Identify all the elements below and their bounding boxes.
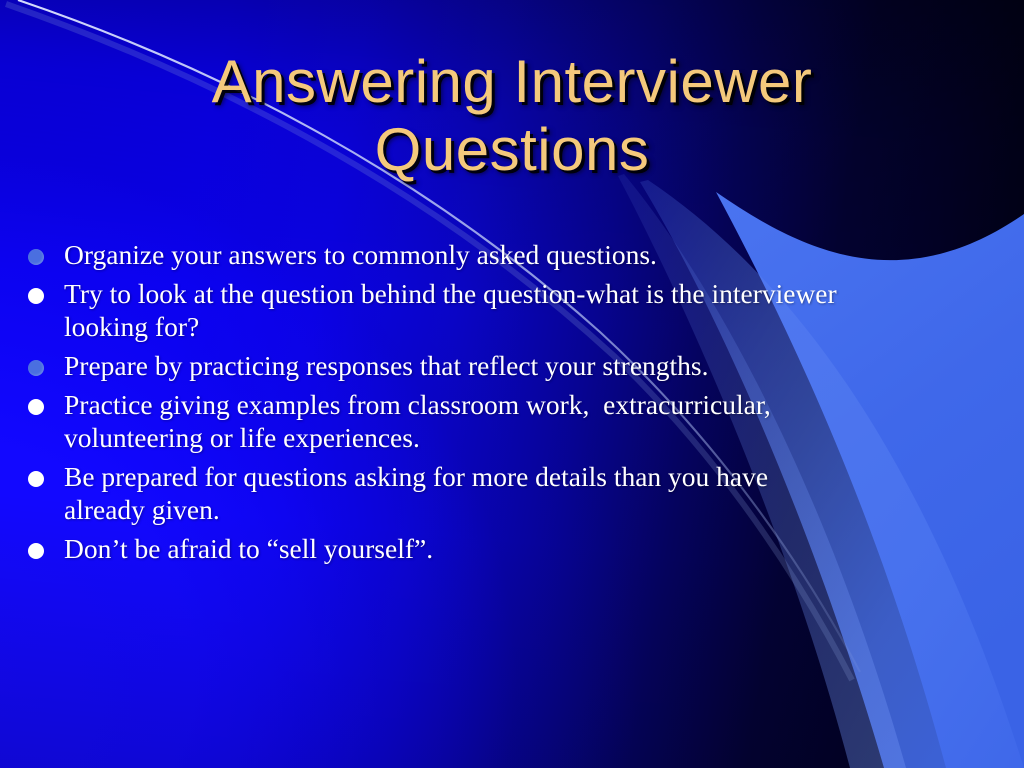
bullet-text: Try to look at the question behind the q… — [64, 277, 1024, 343]
bullet-item-4: Practice giving examples from classroom … — [28, 388, 1024, 454]
bullet-point-icon — [28, 471, 44, 487]
bullet-text: Don’t be afraid to “sell yourself”. — [64, 532, 1024, 565]
title-line-2: Questions — [0, 116, 1024, 184]
bullet-item-5: Be prepared for questions asking for mor… — [28, 460, 1024, 526]
presentation-slide: Answering Interviewer Questions Organize… — [0, 0, 1024, 768]
bullet-item-2: Try to look at the question behind the q… — [28, 277, 1024, 343]
slide-title: Answering Interviewer Questions — [0, 48, 1024, 184]
bullet-text: Prepare by practicing responses that ref… — [64, 349, 1024, 382]
bullet-item-3: Prepare by practicing responses that ref… — [28, 349, 1024, 382]
bullet-text: Practice giving examples from classroom … — [64, 388, 1024, 454]
bullet-item-1: Organize your answers to commonly asked … — [28, 238, 1024, 271]
bullet-text: Organize your answers to commonly asked … — [64, 238, 1024, 271]
title-line-1: Answering Interviewer — [0, 48, 1024, 116]
bullet-point-icon — [28, 399, 44, 415]
slide-bullet-list: Organize your answers to commonly asked … — [28, 238, 1024, 571]
bullet-text: Be prepared for questions asking for mor… — [64, 460, 1024, 526]
bullet-point-icon — [28, 360, 44, 376]
bullet-point-icon — [28, 249, 44, 265]
bullet-point-icon — [28, 543, 44, 559]
bullet-point-icon — [28, 288, 44, 304]
bullet-item-6: Don’t be afraid to “sell yourself”. — [28, 532, 1024, 565]
